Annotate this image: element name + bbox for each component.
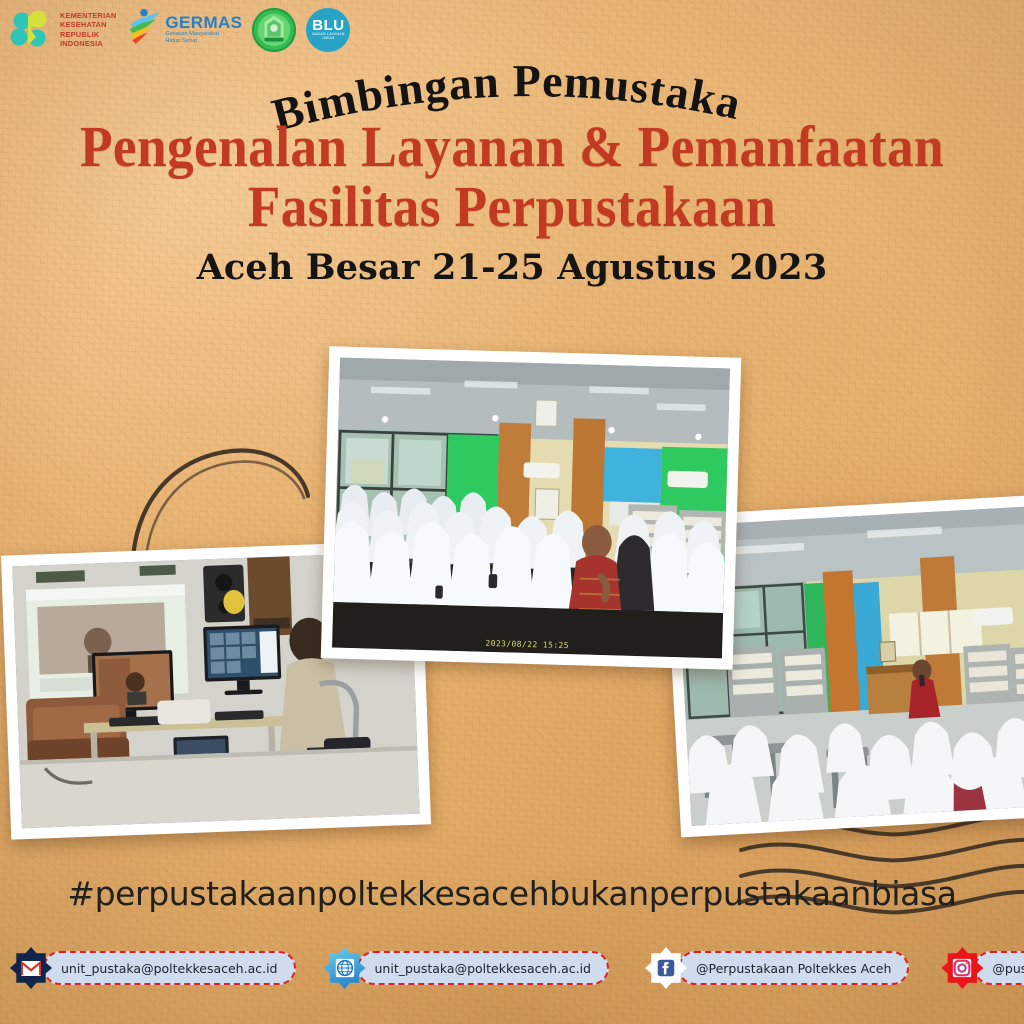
- contact-website[interactable]: unit_pustaka@poltekkesaceh.ac.id: [324, 947, 610, 989]
- photo-center: 2023/08/22 15:25: [321, 346, 742, 669]
- instagram-icon[interactable]: [941, 947, 983, 989]
- kemenkes-line-1: KEMENTERIAN: [60, 11, 116, 20]
- germas-title: GERMAS: [165, 14, 242, 31]
- photo-center-image: 2023/08/22 15:25: [332, 358, 730, 659]
- blu-title: BLU: [306, 19, 350, 32]
- contact-facebook-label[interactable]: @Perpustakaan Poltekkes Aceh: [678, 951, 909, 985]
- contact-facebook[interactable]: @Perpustakaan Poltekkes Aceh: [645, 947, 909, 989]
- kemenkes-line-2: KESEHATAN: [60, 20, 116, 29]
- contact-email-label[interactable]: unit_pustaka@poltekkesaceh.ac.id: [43, 951, 296, 985]
- title-line-1: Pengenalan Layanan & Pemanfaatan: [41, 117, 983, 177]
- poster-canvas: KEMENTERIAN KESEHATAN REPUBLIK INDONESIA…: [0, 0, 1024, 1024]
- contact-email[interactable]: unit_pustaka@poltekkesaceh.ac.id: [10, 947, 296, 989]
- footer-contact-bar: unit_pustaka@poltekkesaceh.ac.id unit_pu…: [0, 938, 1024, 998]
- blu-logo-text: BLU BADAN LAYANAN UMUM: [306, 19, 350, 40]
- event-date-location: Aceh Besar 21-25 Agustus 2023: [0, 247, 1024, 288]
- germas-tagline-1: Gerakan Masyarakat: [165, 31, 242, 38]
- contact-instagram[interactable]: @pustaka.poltekkesaceh: [941, 947, 1024, 989]
- title-line-2: Fasilitas Perpustakaan: [41, 177, 983, 237]
- page-title: Pengenalan Layanan & Pemanfaatan Fasilit…: [0, 117, 1024, 237]
- website-globe-icon[interactable]: [324, 947, 366, 989]
- hashtag-text: #perpustakaanpoltekkesacehbukanperpustak…: [0, 874, 1024, 913]
- gmail-icon[interactable]: [10, 947, 52, 989]
- contact-website-label[interactable]: unit_pustaka@poltekkesaceh.ac.id: [357, 951, 610, 985]
- facebook-icon[interactable]: [645, 947, 687, 989]
